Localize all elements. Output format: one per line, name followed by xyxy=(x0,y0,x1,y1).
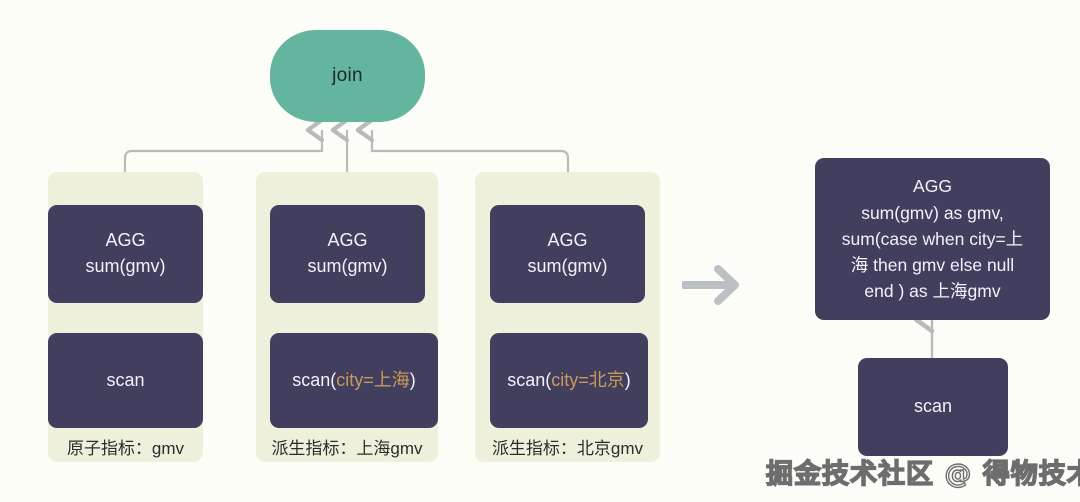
agg-node-derived-shanghai-gmv[interactable]: AGG sum(gmv) xyxy=(270,205,425,303)
scan-node-rewritten[interactable]: scan xyxy=(858,358,1008,456)
agg-line-1: AGG xyxy=(327,228,367,254)
scan-node-derived-shanghai-gmv[interactable]: scan(city=上海) xyxy=(270,333,438,428)
scan-node-label: scan(city=上海) xyxy=(292,368,416,394)
group-caption-atomic-gmv: 原子指标：gmv xyxy=(48,434,203,459)
diagram-canvas: join 原子指标：gmv AGG sum(gmv) scan 派生指标：上海g… xyxy=(0,0,1080,502)
scan-prefix: scan xyxy=(292,370,330,390)
agg-node-derived-beijing-gmv[interactable]: AGG sum(gmv) xyxy=(490,205,645,303)
scan-close-paren: ) xyxy=(410,370,416,390)
scan-node-derived-beijing-gmv[interactable]: scan(city=北京) xyxy=(490,333,648,428)
agg-node-rewritten[interactable]: AGG sum(gmv) as gmv, sum(case when city=… xyxy=(815,158,1050,320)
join-node-label: join xyxy=(332,65,363,87)
agg-rewritten-line-5: end ) as 上海gmv xyxy=(864,278,1000,304)
agg-line-2: sum(gmv) xyxy=(528,254,608,280)
transition-arrow xyxy=(682,262,750,313)
agg-node-atomic-gmv[interactable]: AGG sum(gmv) xyxy=(48,205,203,303)
right-arrow-icon xyxy=(682,262,750,308)
join-node[interactable]: join xyxy=(270,30,425,122)
agg-line-1: AGG xyxy=(105,228,145,254)
scan-node-atomic-gmv[interactable]: scan xyxy=(48,333,203,428)
agg-rewritten-line-1: AGG xyxy=(913,173,952,199)
scan-filter-keyword: city=上海 xyxy=(336,370,410,390)
group-caption-derived-beijing-gmv: 派生指标：北京gmv xyxy=(475,434,660,459)
scan-close-paren: ) xyxy=(625,370,631,390)
scan-prefix: scan xyxy=(507,370,545,390)
agg-rewritten-line-3: sum(case when city=上 xyxy=(842,226,1023,252)
scan-filter-keyword: city=北京 xyxy=(551,370,625,390)
agg-rewritten-line-2: sum(gmv) as gmv, xyxy=(861,200,1004,226)
scan-prefix: scan xyxy=(106,370,144,390)
watermark: 掘金技术社区 @ 得物技术 xyxy=(766,452,1080,491)
scan-node-label: scan(city=北京) xyxy=(507,368,631,394)
group-caption-derived-shanghai-gmv: 派生指标：上海gmv xyxy=(256,434,438,459)
scan-node-label: scan xyxy=(106,368,144,394)
agg-line-2: sum(gmv) xyxy=(308,254,388,280)
agg-line-1: AGG xyxy=(547,228,587,254)
scan-node-label: scan xyxy=(914,394,952,420)
agg-line-2: sum(gmv) xyxy=(86,254,166,280)
agg-rewritten-line-4: 海 then gmv else null xyxy=(851,252,1014,278)
